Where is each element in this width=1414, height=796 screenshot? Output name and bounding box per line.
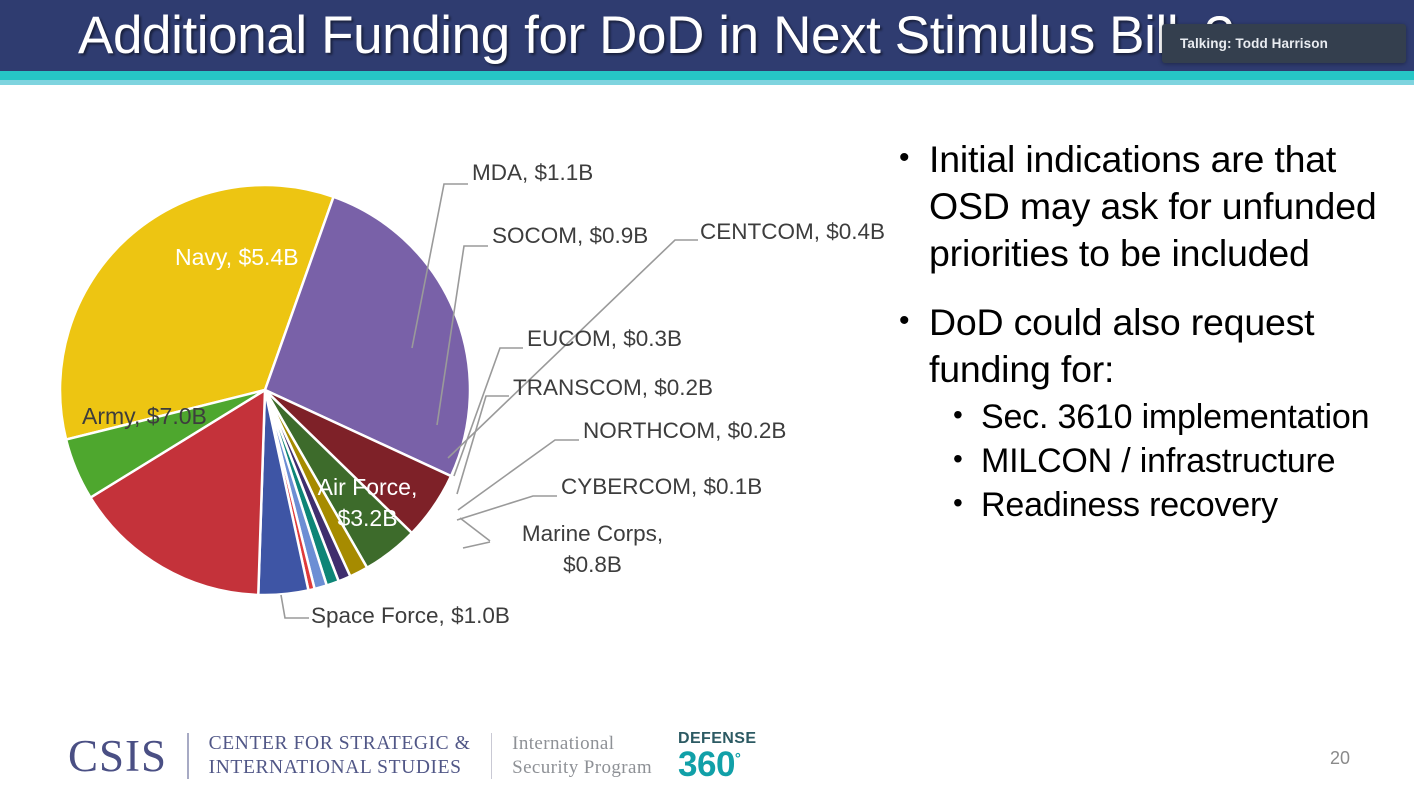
defense360-logo: DEFENSE 360° (678, 731, 756, 782)
bullet-subitem-readiness: Readiness recovery (947, 485, 1403, 526)
talking-indicator-overlay[interactable]: Talking: Todd Harrison (1162, 24, 1406, 63)
bullet-item-initial-indications-text: Initial indications are that OSD may ask… (929, 136, 1403, 277)
pie-label-air-force-line1: Air Force, (305, 472, 430, 503)
pie-label-transcom: TRANSCOM, $0.2B (513, 374, 713, 401)
leader-line-marine-corps-2 (460, 518, 490, 541)
defense360-degree-mark: ° (735, 750, 741, 767)
pie-label-mda: MDA, $1.1B (472, 159, 593, 186)
pie-label-navy: Navy, $5.4B (175, 242, 299, 273)
bullet-item-initial-indications: Initial indications are that OSD may ask… (893, 136, 1403, 277)
pie-label-air-force-line2: $3.2B (305, 503, 430, 534)
bullet-subitem-sec-3610: Sec. 3610 implementation (947, 397, 1403, 438)
isp-line1: International (512, 732, 652, 756)
footer-divider-2 (491, 733, 493, 779)
pie-label-army: Army, $7.0B (82, 401, 207, 432)
footer-logo-bar: CSIS CENTER FOR STRATEGIC & INTERNATIONA… (68, 726, 756, 786)
pie-chart: Navy, $5.4B Army, $7.0B Air Force, $3.2B… (20, 120, 890, 660)
pie-chart-svg (20, 120, 890, 660)
bullet-item-dod-request: DoD could also request funding for: Sec.… (893, 299, 1403, 526)
isp-line2: Security Program (512, 756, 652, 780)
csis-tagline: CENTER FOR STRATEGIC & INTERNATIONAL STU… (209, 732, 471, 780)
accent-stripe-primary (0, 71, 1414, 80)
pie-label-socom: SOCOM, $0.9B (492, 222, 648, 249)
talking-speaker-label: Talking: Todd Harrison (1162, 36, 1328, 51)
pie-label-cybercom: CYBERCOM, $0.1B (561, 473, 762, 500)
pie-label-eucom: EUCOM, $0.3B (527, 325, 682, 352)
csis-tagline-line2: INTERNATIONAL STUDIES (209, 756, 471, 780)
bullet-item-dod-request-text: DoD could also request funding for: (929, 299, 1403, 393)
footer-divider-1 (187, 733, 189, 779)
slide-canvas: Additional Funding for DoD in Next Stimu… (0, 0, 1414, 796)
bullet-list-level1: Initial indications are that OSD may ask… (893, 136, 1403, 526)
international-security-program-label: International Security Program (512, 732, 652, 780)
bullet-list-level2: Sec. 3610 implementation MILCON / infras… (947, 397, 1403, 526)
accent-stripe-secondary (0, 80, 1414, 85)
defense360-number: 360° (678, 747, 756, 782)
pie-label-space-force: Space Force, $1.0B (311, 602, 510, 629)
pie-label-marine-corps-line2: $0.8B (490, 551, 695, 578)
pie-label-northcom: NORTHCOM, $0.2B (583, 417, 786, 444)
leader-line-space-force (281, 595, 309, 618)
pie-label-centcom: CENTCOM, $0.4B (700, 218, 885, 245)
bullet-subitem-milcon: MILCON / infrastructure (947, 441, 1403, 482)
pie-label-marine-corps-line1: Marine Corps, (490, 520, 695, 547)
leader-line-marine-corps (463, 542, 490, 548)
page-number: 20 (1330, 748, 1350, 769)
csis-tagline-line1: CENTER FOR STRATEGIC & (209, 732, 471, 756)
csis-wordmark: CSIS (68, 731, 167, 781)
bullet-list-panel: Initial indications are that OSD may ask… (893, 136, 1403, 529)
